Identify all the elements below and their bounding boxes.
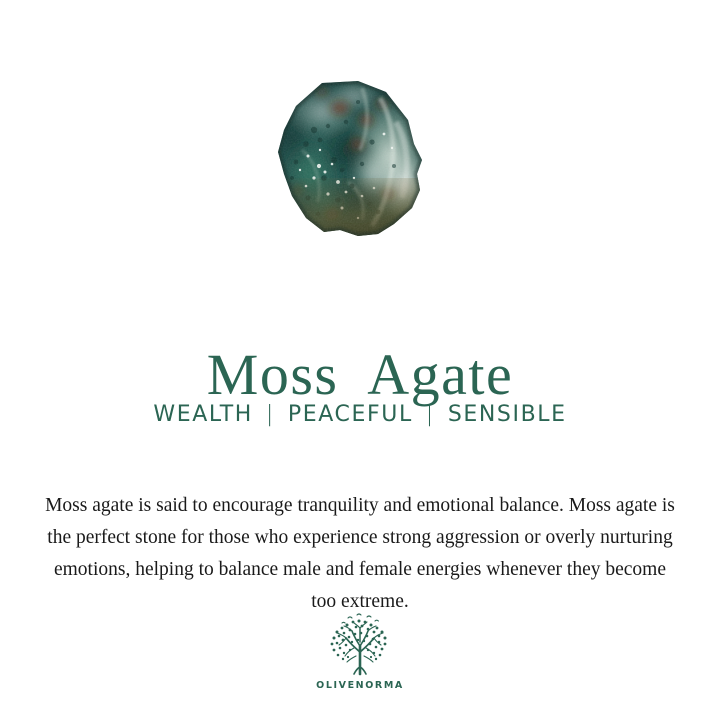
moss-agate-stone-photo <box>262 78 430 240</box>
keyword-list: WEALTH|PEACEFUL|SENSIBLE <box>0 400 720 430</box>
keyword-sensible: SENSIBLE <box>448 400 567 430</box>
stone-image <box>262 78 430 240</box>
keyword-separator: | <box>413 400 448 430</box>
moss-agate-info-card: Moss Agate WEALTH|PEACEFUL|SENSIBLE Moss… <box>0 0 720 720</box>
description-text: Moss agate is said to encourage tranquil… <box>40 490 680 618</box>
brand-name: OLIVENORMA <box>316 680 404 691</box>
keyword-peaceful: PEACEFUL <box>288 400 413 430</box>
keyword-separator: | <box>253 400 288 430</box>
page-title: Moss Agate <box>0 342 720 408</box>
brand-footer: OLIVENORMA <box>0 612 720 691</box>
tree-logo-icon <box>323 612 397 678</box>
keyword-wealth: WEALTH <box>153 400 253 430</box>
